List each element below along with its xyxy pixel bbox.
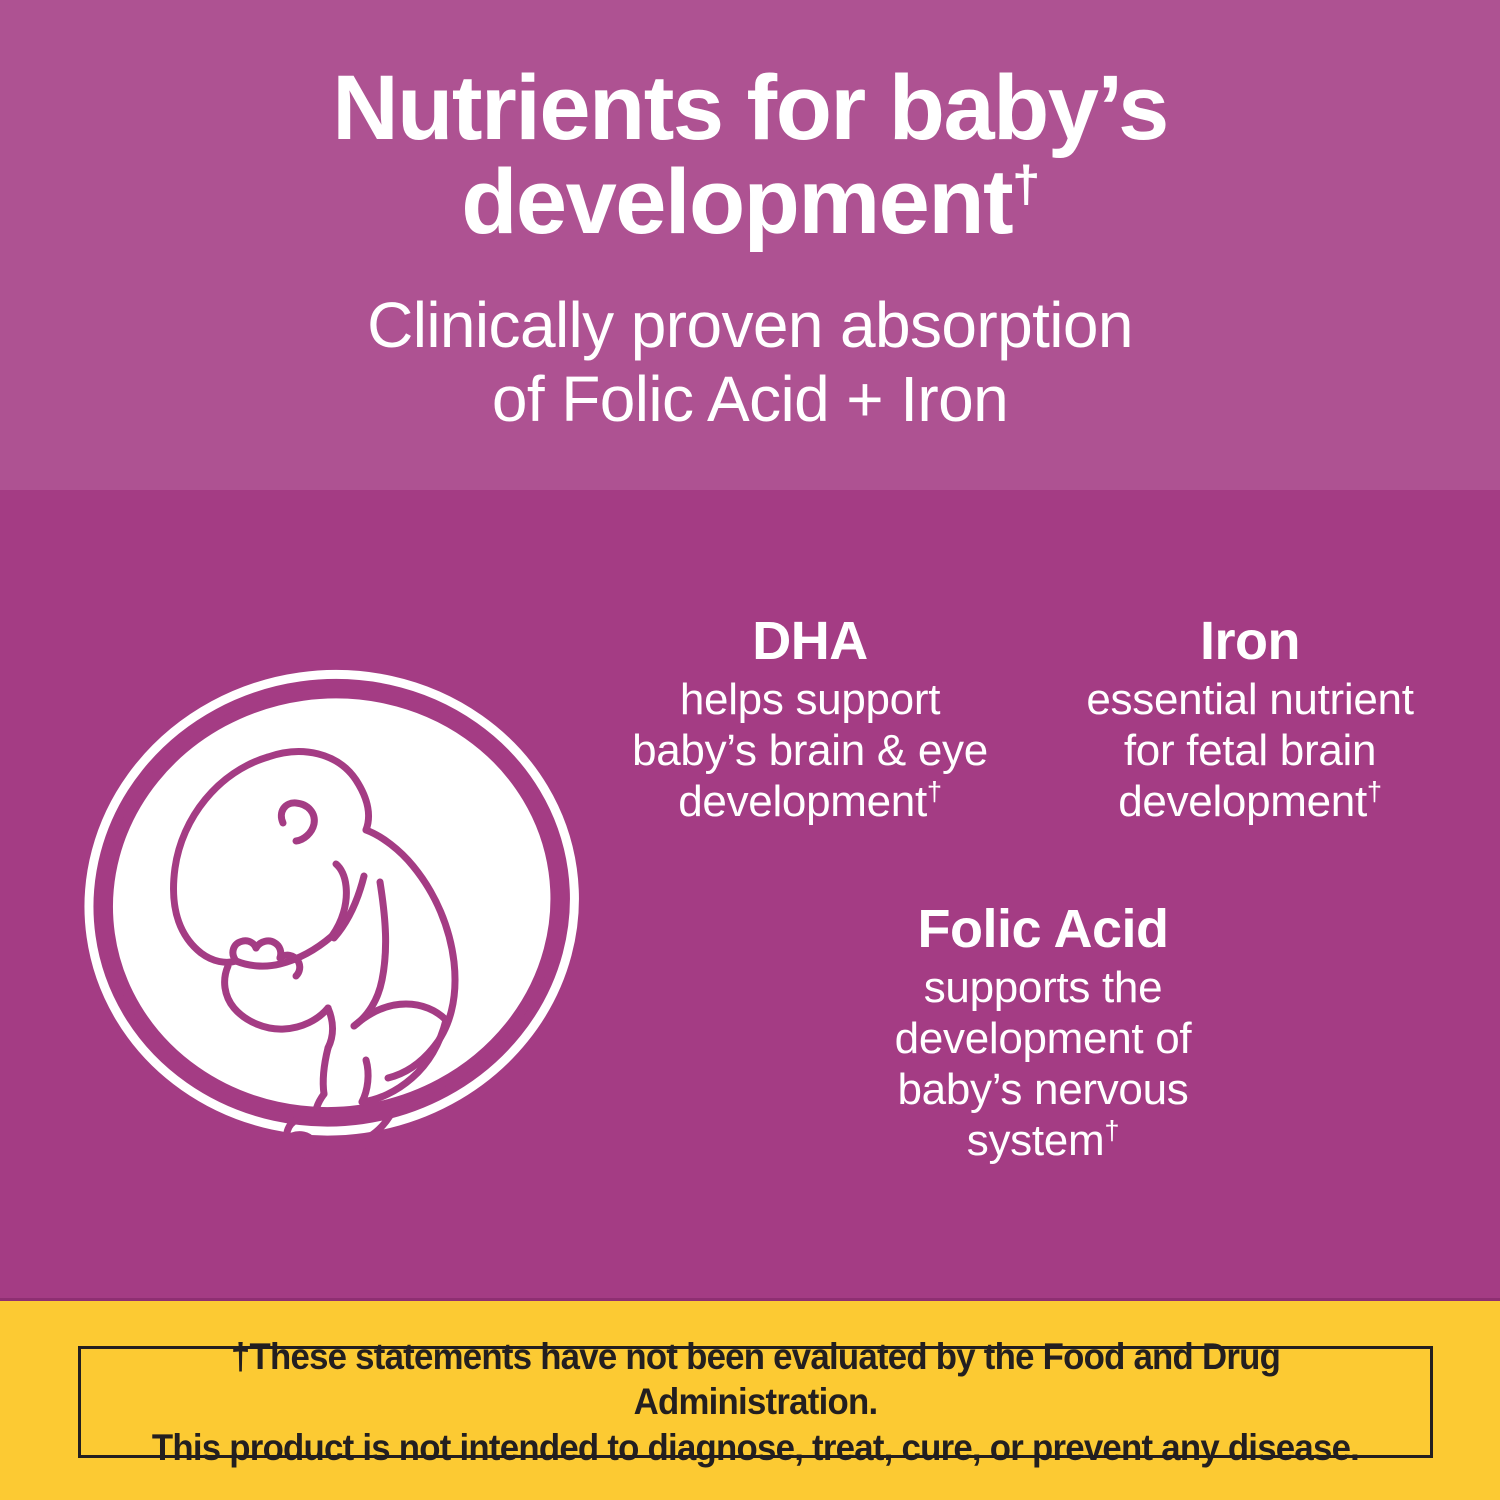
product-infographic: Nutrients for baby’s development† Clinic…	[0, 0, 1500, 1500]
nutrient-block-dha: DHA helps support baby’s brain & eye dev…	[600, 612, 1020, 827]
nutrient-dagger-dha: †	[927, 776, 942, 807]
page-title: Nutrients for baby’s development†	[0, 62, 1500, 250]
page-title-text: Nutrients for baby’s development	[332, 57, 1168, 253]
nutrient-title-dha: DHA	[600, 612, 1020, 670]
nutrient-description-text-iron: essential nutrient for fetal brain devel…	[1086, 675, 1413, 826]
disclaimer-box: †These statements have not been evaluate…	[78, 1346, 1433, 1458]
page-title-dagger: †	[1012, 155, 1039, 212]
nutrient-description-folic-acid: supports the development of baby’s nervo…	[818, 962, 1268, 1166]
nutrient-block-folic-acid: Folic Acid supports the development of b…	[818, 900, 1268, 1166]
nutrient-description-iron: essential nutrient for fetal brain devel…	[1042, 674, 1458, 827]
nutrient-dagger-iron: †	[1367, 776, 1382, 807]
nutrient-title-iron: Iron	[1042, 612, 1458, 670]
nutrient-description-text-folic-acid: supports the development of baby’s nervo…	[895, 963, 1192, 1165]
nutrient-block-iron: Iron essential nutrient for fetal brain …	[1042, 612, 1458, 827]
nutrient-dagger-folic-acid: †	[1104, 1115, 1119, 1146]
fetus-in-womb-icon	[70, 650, 590, 1160]
page-subtitle: Clinically proven absorption of Folic Ac…	[0, 288, 1500, 436]
disclaimer-text: †These statements have not been evaluate…	[121, 1334, 1389, 1469]
nutrient-description-dha: helps support baby’s brain & eye develop…	[600, 674, 1020, 827]
nutrient-title-folic-acid: Folic Acid	[818, 900, 1268, 958]
